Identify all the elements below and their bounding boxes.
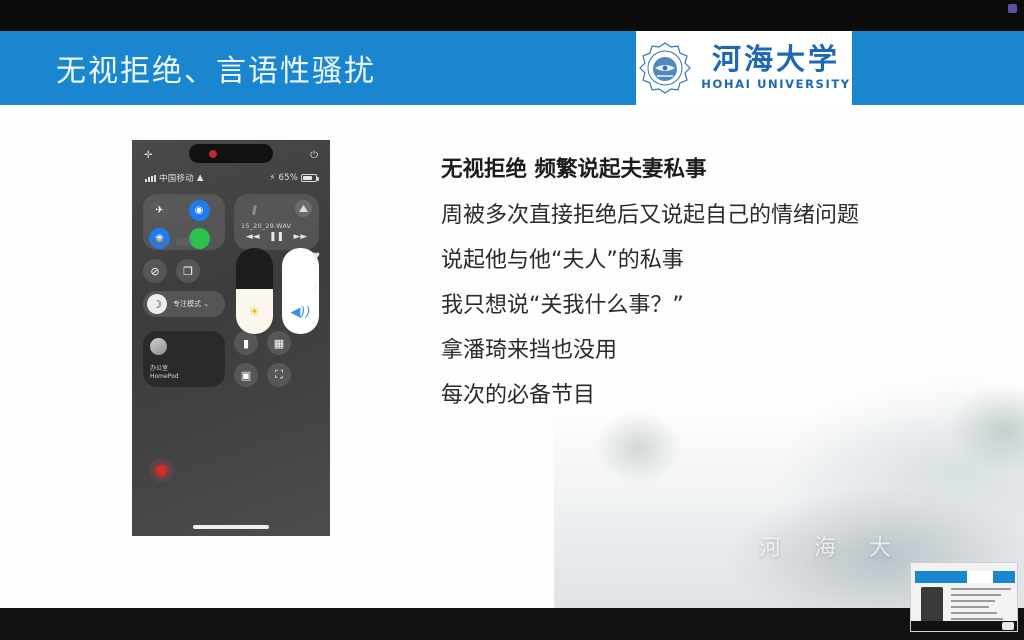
university-seal-icon (637, 40, 693, 96)
phone-screenshot-image: ✛ ⏻ 中国移动 ▲ ⚡ 65% (132, 140, 330, 536)
wifi-icon: ▲ (197, 173, 204, 183)
rewind-button[interactable]: ◄◄ (246, 232, 260, 242)
screen-record-button[interactable] (149, 458, 174, 483)
watermark-text: 河 海 大 (759, 530, 904, 562)
body-line-4: 我只想说“关我什么事？” (441, 295, 981, 317)
power-icon: ⏻ (310, 150, 318, 161)
volume-icon: ◀)) (290, 305, 310, 320)
university-logo: 河海大学 HOHAI UNIVERSITY (636, 31, 852, 105)
flashlight-icon[interactable]: ▮ (234, 331, 258, 355)
qr-scanner-icon[interactable]: ⛶ (267, 363, 291, 387)
letterbox-top (0, 0, 1024, 31)
thumbnail-header-band (915, 571, 1015, 583)
page-title: 无视拒绝、言语性骚扰 (56, 31, 376, 105)
moon-icon: ☽ (147, 294, 167, 314)
thumbnail-text-lines (951, 588, 1013, 624)
home-indicator (193, 525, 269, 529)
rotation-lock-icon[interactable]: ⊘ (143, 259, 167, 283)
side-shortcut-column: ♥ ♪ (312, 252, 320, 294)
calculator-icon[interactable]: ▦ (267, 331, 291, 355)
brightness-slider[interactable]: ☀ (236, 248, 273, 334)
forward-button[interactable]: ►► (293, 232, 307, 242)
battery-icon (301, 174, 317, 182)
phone-status-bar: 中国移动 ▲ ⚡ 65% (132, 170, 330, 186)
thumbnail-phone-image (921, 587, 943, 625)
airplane-mode-icon[interactable]: ✈ (149, 200, 170, 221)
video-player-screen: 河 海 大 无视拒绝 频繁说起夫妻私事 周被多次直接拒绝后又说起自己的情绪问题 … (0, 0, 1024, 640)
homepod-tile[interactable]: 办公室 HomePod (143, 331, 225, 387)
battery-percent-label: 65% (279, 173, 299, 183)
carrier-label: 中国移动 (159, 172, 194, 184)
add-icon: ✛ (144, 150, 152, 161)
logo-chinese-name: 河海大学 (712, 45, 840, 74)
cellular-data-icon[interactable]: ◉ (189, 200, 210, 221)
media-track-title: 15_20_29.WAV (241, 222, 312, 230)
music-icon[interactable]: ♪ (312, 284, 320, 294)
focus-mode-toggle[interactable]: ☽ 专注模式 ⌄ (143, 291, 225, 317)
body-line-3: 说起他与他“夫人”的私事 (441, 250, 981, 272)
brightness-icon: ☀ (249, 305, 261, 320)
homepod-room-label: 办公室 (150, 365, 179, 373)
focus-mode-label: 专注模式 ⌄ (173, 299, 209, 309)
media-player-module[interactable]: 15_20_29.WAV ◄◄ ❚❚ ►► (234, 194, 319, 250)
album-art (241, 200, 267, 220)
status-dot-icon (1008, 4, 1017, 13)
dynamic-island (189, 144, 273, 163)
homepod-device-label: HomePod (150, 373, 179, 381)
slide-body: 无视拒绝 频繁说起夫妻私事 周被多次直接拒绝后又说起自己的情绪问题 说起他与他“… (441, 159, 981, 430)
header-accent-right (852, 31, 1024, 105)
camera-icon[interactable]: ▣ (234, 363, 258, 387)
recording-indicator-icon (209, 150, 217, 158)
logo-english-name: HOHAI UNIVERSITY (701, 79, 850, 91)
slide-preview-thumbnail[interactable] (910, 562, 1018, 632)
letterbox-bottom (0, 608, 1024, 640)
airplay-icon[interactable] (295, 200, 312, 217)
body-line-1: 无视拒绝 频繁说起夫妻私事 (441, 159, 981, 181)
charging-bolt-icon: ⚡ (269, 173, 275, 183)
pause-button[interactable]: ❚❚ (269, 232, 284, 242)
connectivity-module[interactable]: ✈ ◉ ◉ (143, 194, 225, 250)
presentation-slide: 河 海 大 无视拒绝 频繁说起夫妻私事 周被多次直接拒绝后又说起自己的情绪问题 … (0, 31, 1024, 608)
body-line-2: 周被多次直接拒绝后又说起自己的情绪问题 (441, 205, 981, 227)
health-icon[interactable]: ♥ (312, 252, 320, 262)
homepod-icon (150, 338, 167, 355)
connectivity-sub-row (151, 238, 192, 246)
body-line-6: 每次的必备节目 (441, 385, 981, 407)
thumbnail-badge-icon (1002, 622, 1014, 630)
screen-mirroring-icon[interactable]: ❐ (176, 259, 200, 283)
signal-bars-icon (145, 175, 156, 182)
slider-group: ☀ ◀)) (236, 248, 319, 334)
body-line-5: 拿潘琦来挡也没用 (441, 340, 981, 362)
